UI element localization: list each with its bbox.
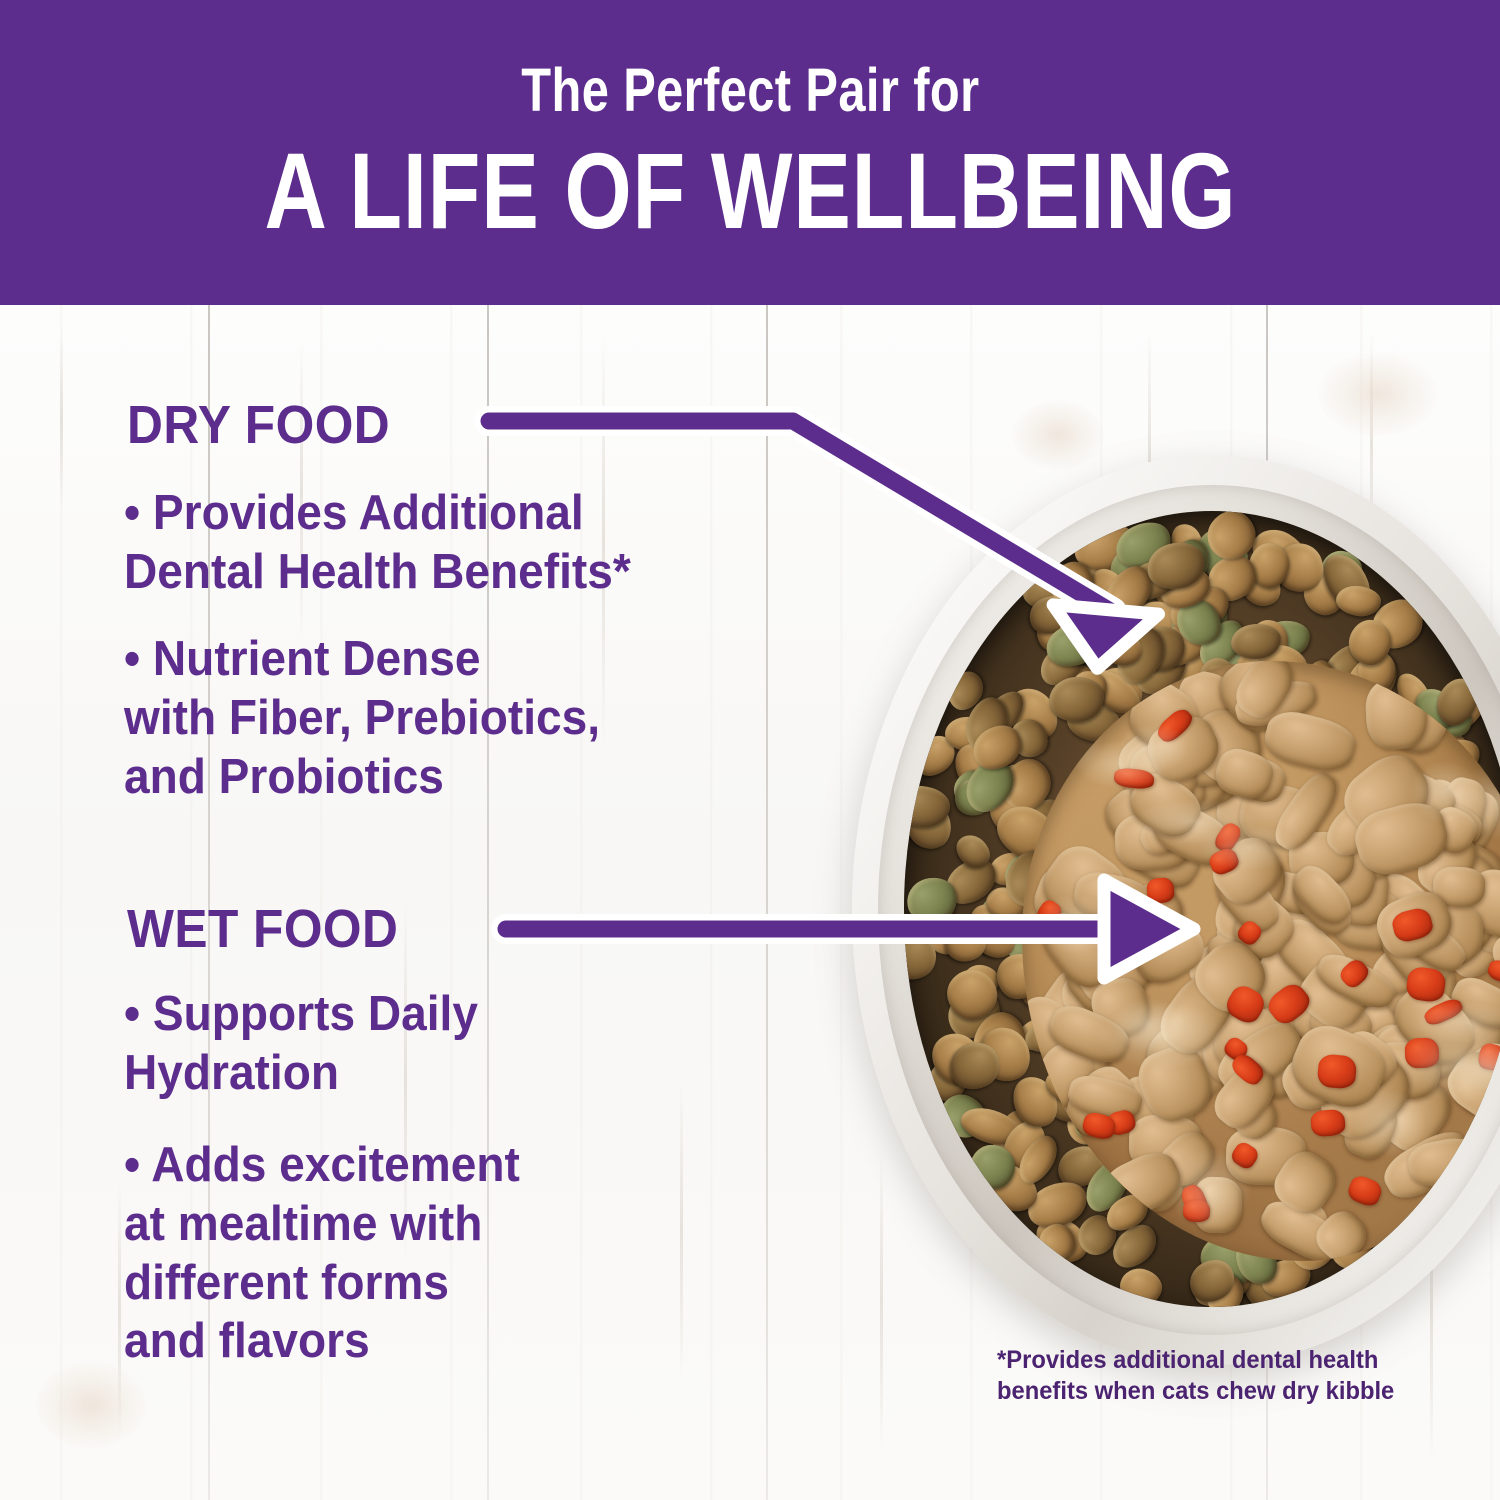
promo-image: The Perfect Pair for A LIFE OF WELLBEING… [0, 0, 1500, 1500]
wood-grain [680, 1080, 683, 1380]
wood-smudge [36, 1362, 146, 1448]
wet-food-bullet-2: • Adds excitement at mealtime with diffe… [124, 1136, 520, 1371]
wood-smudge [1318, 352, 1438, 436]
gravy-sheen [1117, 723, 1188, 774]
gravy-sheen [1197, 824, 1299, 871]
gravy-sheen [1351, 1089, 1426, 1158]
plank-seam [766, 305, 768, 1500]
wet-food-heading: WET FOOD [127, 898, 398, 960]
tomato-piece [1346, 1173, 1385, 1209]
tomato-piece [1317, 1053, 1358, 1089]
gravy-sheen [1096, 1002, 1232, 1070]
gravy-sheen [1168, 1147, 1253, 1231]
dental-benefit-footnote: *Provides additional dental health benef… [997, 1345, 1406, 1406]
header-eyebrow: The Perfect Pair for [521, 60, 979, 121]
gravy-sheen [1040, 893, 1111, 954]
cat-food-bowl [852, 455, 1500, 1365]
bowl-interior [904, 511, 1500, 1307]
dry-food-heading: DRY FOOD [127, 394, 390, 456]
wet-food-chunk [1364, 678, 1428, 750]
gravy-sheen [1072, 664, 1176, 705]
header-banner: The Perfect Pair for A LIFE OF WELLBEING [0, 0, 1500, 305]
page-title: A LIFE OF WELLBEING [264, 137, 1236, 245]
dry-food-bullet-2: • Nutrient Dense with Fiber, Prebiotics,… [124, 630, 600, 806]
dry-food-bullet-1: • Provides Additional Dental Health Bene… [124, 484, 631, 602]
wet-food-bullet-1: • Supports Daily Hydration [124, 985, 478, 1103]
wood-grain [60, 330, 63, 510]
